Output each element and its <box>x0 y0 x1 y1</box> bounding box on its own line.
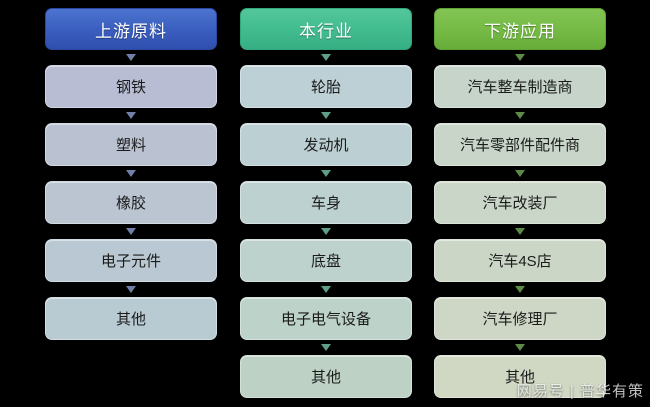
node-box[interactable]: 轮胎 <box>240 65 412 108</box>
connector-arrow <box>434 282 606 297</box>
arrow-down-icon <box>321 170 331 177</box>
arrow-down-icon <box>321 344 331 351</box>
arrow-down-icon <box>321 286 331 293</box>
arrow-down-icon <box>126 228 136 235</box>
connector-arrow <box>434 166 606 181</box>
connector-arrow <box>240 340 412 355</box>
column-industry: 本行业轮胎发动机车身底盘电子电气设备其他 <box>240 8 412 398</box>
connector-arrow <box>45 166 217 181</box>
arrow-down-icon <box>515 286 525 293</box>
column-header-upstream[interactable]: 上游原料 <box>45 8 217 50</box>
industry-chain-diagram: 上游原料钢铁塑料橡胶电子元件其他本行业轮胎发动机车身底盘电子电气设备其他下游应用… <box>0 0 650 407</box>
arrow-down-icon <box>126 54 136 61</box>
node-box[interactable]: 橡胶 <box>45 181 217 224</box>
node-box[interactable]: 钢铁 <box>45 65 217 108</box>
connector-arrow <box>434 50 606 65</box>
node-box[interactable]: 汽车零部件配件商 <box>434 123 606 166</box>
node-box[interactable]: 底盘 <box>240 239 412 282</box>
connector-arrow <box>434 108 606 123</box>
node-box[interactable]: 车身 <box>240 181 412 224</box>
arrow-down-icon <box>515 228 525 235</box>
node-box[interactable]: 电子电气设备 <box>240 297 412 340</box>
node-box[interactable]: 其他 <box>240 355 412 398</box>
node-box[interactable]: 汽车修理厂 <box>434 297 606 340</box>
connector-arrow <box>45 50 217 65</box>
arrow-down-icon <box>126 170 136 177</box>
arrow-down-icon <box>126 112 136 119</box>
connector-arrow <box>240 166 412 181</box>
node-box[interactable]: 汽车整车制造商 <box>434 65 606 108</box>
node-box[interactable]: 发动机 <box>240 123 412 166</box>
connector-arrow <box>240 50 412 65</box>
node-box[interactable]: 汽车改装厂 <box>434 181 606 224</box>
column-downstream: 下游应用汽车整车制造商汽车零部件配件商汽车改装厂汽车4S店汽车修理厂其他 <box>434 8 606 398</box>
node-box[interactable]: 塑料 <box>45 123 217 166</box>
node-box[interactable]: 汽车4S店 <box>434 239 606 282</box>
node-box[interactable]: 电子元件 <box>45 239 217 282</box>
connector-arrow <box>240 108 412 123</box>
arrow-down-icon <box>321 112 331 119</box>
column-header-industry[interactable]: 本行业 <box>240 8 412 50</box>
connector-arrow <box>45 282 217 297</box>
arrow-down-icon <box>515 344 525 351</box>
connector-arrow <box>45 224 217 239</box>
arrow-down-icon <box>515 112 525 119</box>
watermark: 网易号 | 普华有策 <box>517 380 644 401</box>
connector-arrow <box>434 224 606 239</box>
arrow-down-icon <box>515 54 525 61</box>
arrow-down-icon <box>321 228 331 235</box>
arrow-down-icon <box>126 286 136 293</box>
connector-arrow <box>45 108 217 123</box>
arrow-down-icon <box>515 170 525 177</box>
connector-arrow <box>434 340 606 355</box>
node-box[interactable]: 其他 <box>45 297 217 340</box>
column-upstream: 上游原料钢铁塑料橡胶电子元件其他 <box>45 8 217 340</box>
column-header-downstream[interactable]: 下游应用 <box>434 8 606 50</box>
connector-arrow <box>240 224 412 239</box>
connector-arrow <box>240 282 412 297</box>
arrow-down-icon <box>321 54 331 61</box>
